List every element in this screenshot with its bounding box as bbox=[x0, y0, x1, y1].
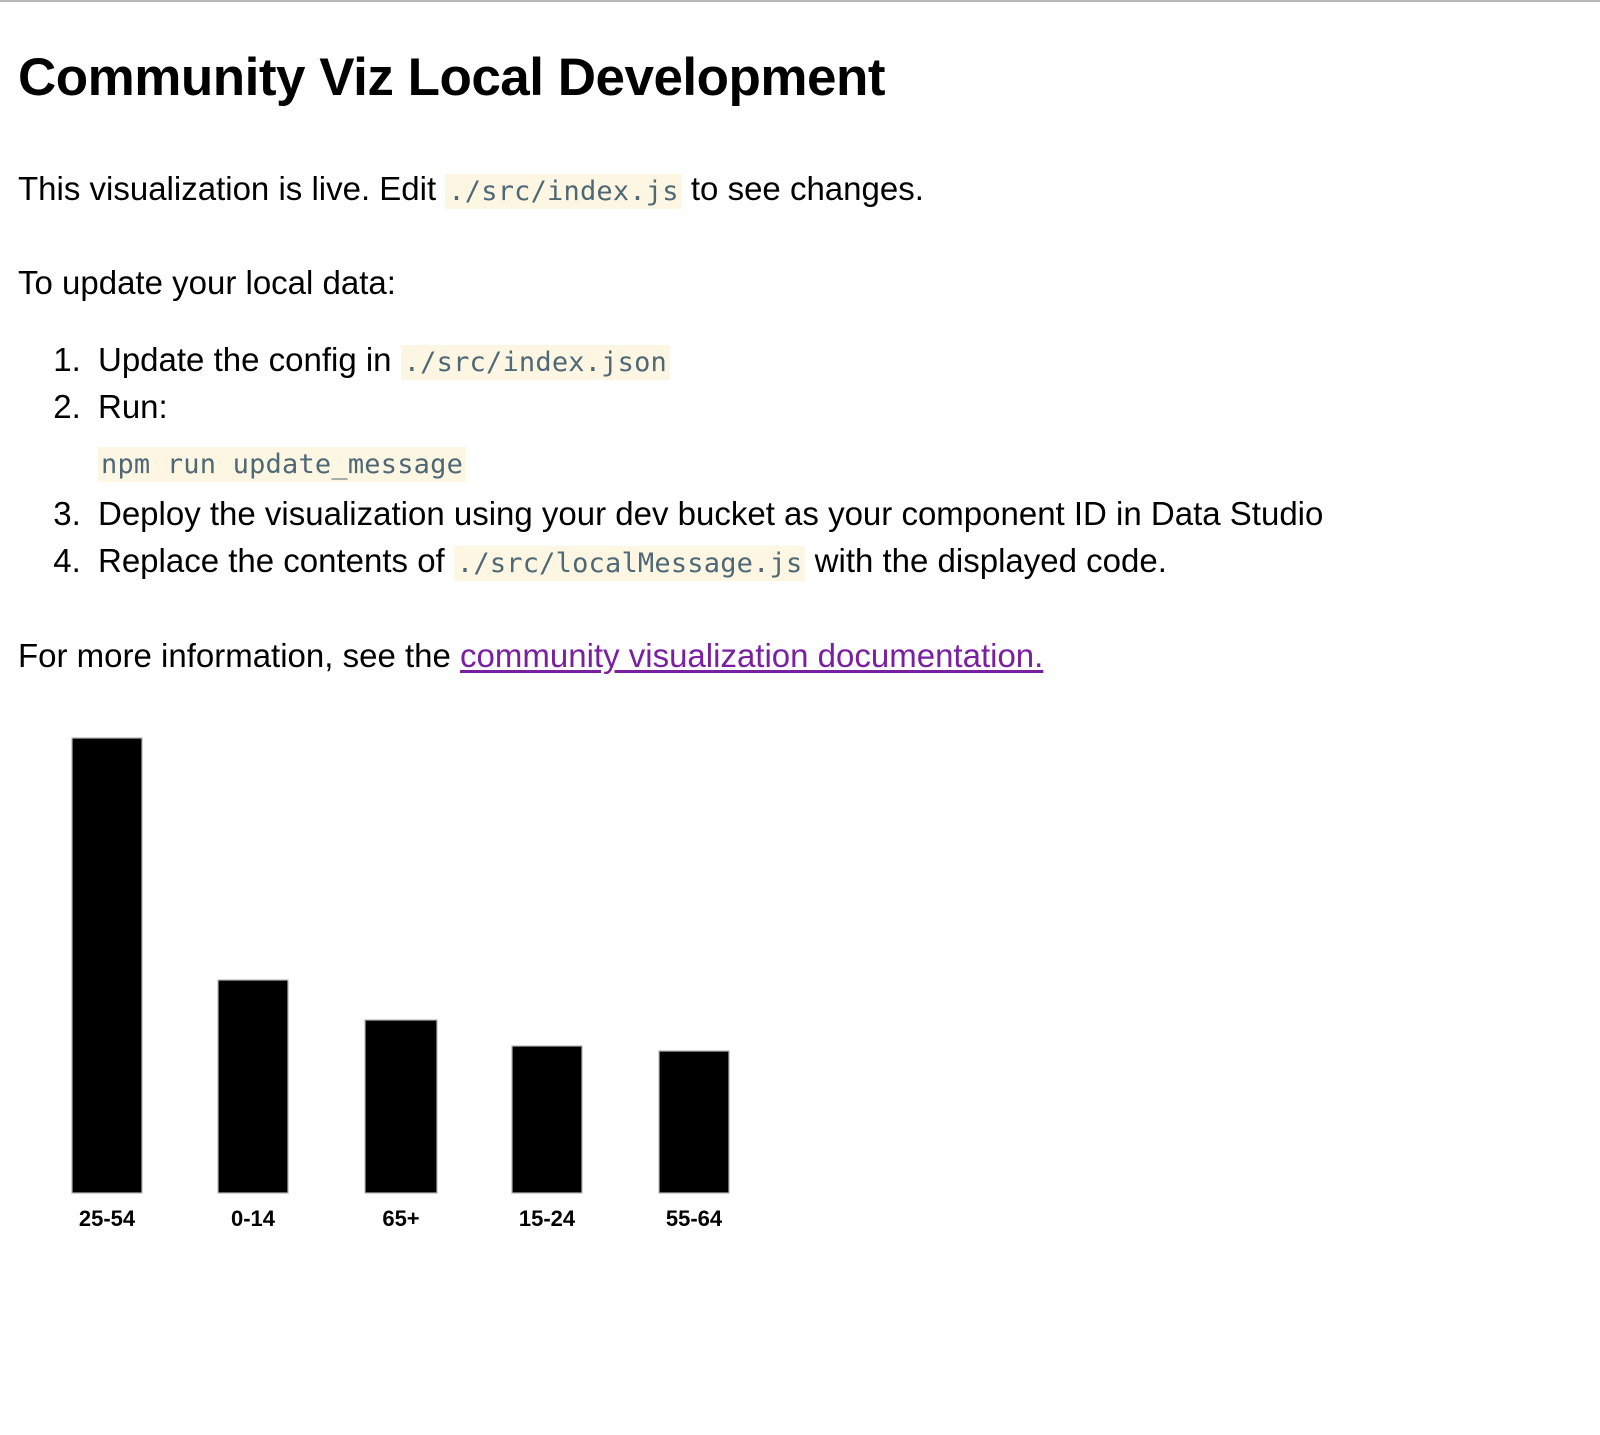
page-title: Community Viz Local Development bbox=[18, 0, 1582, 109]
code-block-wrapper: npm run update_message bbox=[98, 431, 1582, 491]
list-item-step-1: Update the config in ./src/index.json bbox=[90, 337, 1582, 384]
steps-list: Update the config in ./src/index.json Ru… bbox=[18, 303, 1582, 584]
bar-55-64[interactable] bbox=[659, 1051, 729, 1193]
bar-25-54[interactable] bbox=[72, 738, 142, 1193]
step-2-text-before: Run: bbox=[98, 388, 168, 425]
bar-0-14[interactable] bbox=[218, 980, 288, 1193]
bar-15-24[interactable] bbox=[512, 1046, 582, 1193]
block-code-npm-run: npm run update_message bbox=[98, 447, 466, 482]
step-1-text-before: Update the config in bbox=[98, 341, 401, 378]
intro-text-after: to see changes. bbox=[682, 170, 924, 207]
step-3-text: Deploy the visualization using your dev … bbox=[98, 495, 1323, 532]
bar-label-15-24: 15-24 bbox=[519, 1206, 576, 1231]
bar-label-55-64: 55-64 bbox=[666, 1206, 723, 1231]
bar-label-25-54: 25-54 bbox=[79, 1206, 136, 1231]
community-visualization-documentation-link[interactable]: community visualization documentation. bbox=[460, 637, 1043, 674]
bar-label-65+: 65+ bbox=[382, 1206, 419, 1231]
intro-text-before: This visualization is live. Edit bbox=[18, 170, 445, 207]
bar-chart: 25-540-1465+15-2455-64 bbox=[54, 728, 814, 1258]
bar-65+[interactable] bbox=[365, 1020, 437, 1193]
bar-chart-svg: 25-540-1465+15-2455-64 bbox=[54, 728, 814, 1258]
step-4-text-before: Replace the contents of bbox=[98, 542, 454, 579]
bar-label-0-14: 0-14 bbox=[231, 1206, 276, 1231]
update-data-heading: To update your local data: bbox=[18, 209, 1582, 303]
list-item-step-2: Run: npm run update_message bbox=[90, 384, 1582, 491]
inline-code-index-json: ./src/index.json bbox=[401, 345, 670, 380]
step-4-text-after: with the displayed code. bbox=[805, 542, 1166, 579]
list-item-step-3: Deploy the visualization using your dev … bbox=[90, 491, 1582, 538]
list-item-step-4: Replace the contents of ./src/localMessa… bbox=[90, 538, 1582, 585]
inline-code-index-js: ./src/index.js bbox=[445, 174, 681, 209]
intro-paragraph: This visualization is live. Edit ./src/i… bbox=[18, 109, 1582, 209]
more-info-text-before: For more information, see the bbox=[18, 637, 460, 674]
window-top-edge bbox=[0, 0, 1600, 2]
page-content: Community Viz Local Development This vis… bbox=[0, 0, 1600, 1258]
more-info-paragraph: For more information, see the community … bbox=[18, 585, 1582, 676]
inline-code-local-message-js: ./src/localMessage.js bbox=[454, 546, 806, 581]
